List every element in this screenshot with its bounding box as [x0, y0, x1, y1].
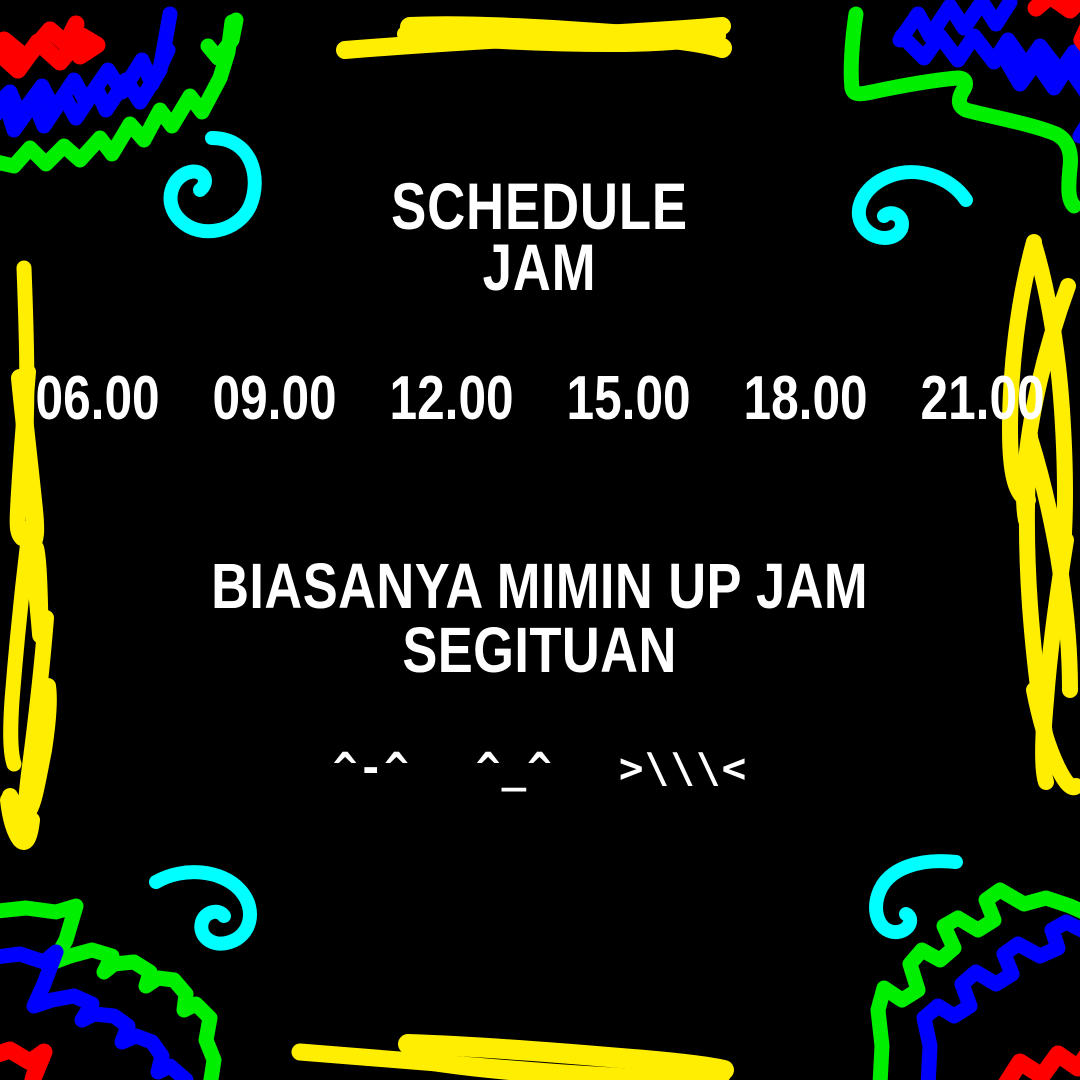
time-slot-6: 21.00: [921, 363, 1045, 434]
time-slot-4: 15.00: [567, 363, 691, 434]
message-block: BIASANYA MIMIN UP JAM SEGITUAN: [139, 554, 940, 682]
time-slot-1: 06.00: [35, 363, 159, 434]
message-line-1: BIASANYA MIMIN UP JAM: [212, 554, 869, 618]
time-slot-5: 18.00: [744, 363, 868, 434]
emoticon-2: ^_^: [476, 744, 553, 792]
message-line-2: SEGITUAN: [212, 618, 869, 682]
content-layer: SCHEDULE JAM 06.00 09.00 12.00 15.00 18.…: [0, 0, 1080, 1080]
schedule-times-row: 06.00 09.00 12.00 15.00 18.00 21.00: [20, 363, 1061, 434]
title-line-schedule: SCHEDULE: [392, 176, 689, 237]
emoticon-1: ^-^: [333, 744, 410, 792]
time-slot-2: 09.00: [212, 363, 336, 434]
title-line-jam: JAM: [392, 237, 689, 298]
page-title: SCHEDULE JAM: [354, 176, 725, 297]
emoticon-row: ^-^ ^_^ >\\\<: [333, 744, 748, 792]
emoticon-3: >\\\<: [619, 744, 747, 792]
time-slot-3: 12.00: [389, 363, 513, 434]
poster-canvas: SCHEDULE JAM 06.00 09.00 12.00 15.00 18.…: [0, 0, 1080, 1080]
